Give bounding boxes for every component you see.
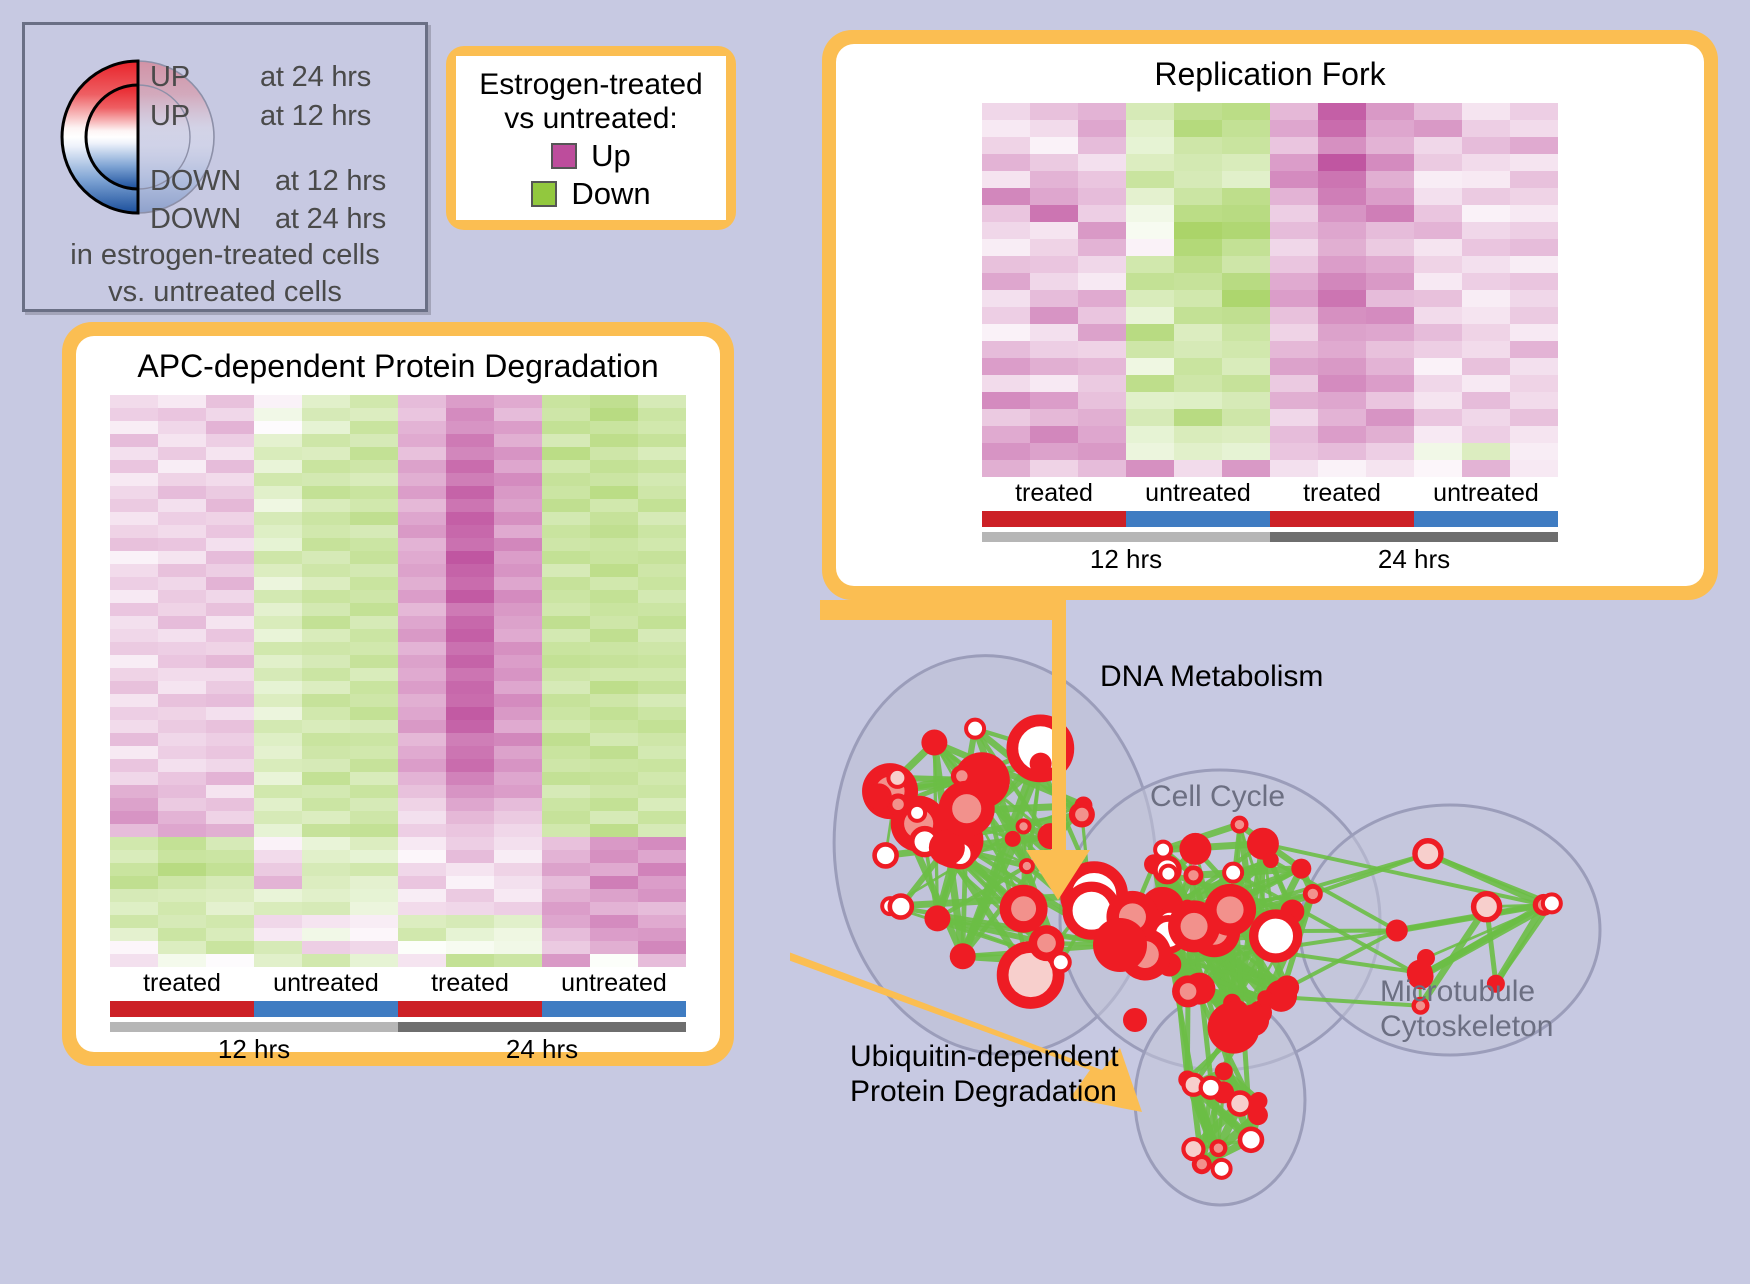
heatmap-cell <box>158 733 206 746</box>
heatmap-cell <box>206 499 254 512</box>
heatmap-cell <box>110 876 158 889</box>
heatmap-cell <box>206 798 254 811</box>
heatmap-cell <box>350 694 398 707</box>
heatmap-cell <box>350 395 398 408</box>
heatmap-cell <box>1462 341 1510 358</box>
heatmap-cell <box>1270 341 1318 358</box>
heatmap-cell <box>1126 307 1174 324</box>
heatmap-cell <box>446 837 494 850</box>
heatmap-cell <box>110 811 158 824</box>
heatmap-cell <box>206 876 254 889</box>
heatmap-cell <box>446 876 494 889</box>
heatmap-cell <box>254 525 302 538</box>
heatmap-cell <box>158 707 206 720</box>
heatmap-cell <box>542 694 590 707</box>
heatmap-cell <box>446 850 494 863</box>
heatmap-cell <box>398 707 446 720</box>
heatmap-cell <box>446 655 494 668</box>
network-node-core <box>1181 913 1208 940</box>
heatmap-cell <box>542 408 590 421</box>
heatmap-cell <box>1174 409 1222 426</box>
heatmap-cell <box>302 850 350 863</box>
heatmap-cell <box>110 616 158 629</box>
heatmap-cell <box>110 889 158 902</box>
heatmap-cell <box>1174 324 1222 341</box>
heatmap-cell <box>350 759 398 772</box>
heatmap-cell <box>1078 409 1126 426</box>
heatmap-cell <box>1318 341 1366 358</box>
heatmap-cell <box>302 785 350 798</box>
heatmap-cell <box>590 486 638 499</box>
heatmap-cell <box>206 863 254 876</box>
heatmap-cell <box>206 902 254 915</box>
panel-apc-dependent-protein-degradation: APC-dependent Protein Degradation treate… <box>62 322 734 1066</box>
heatmap-cell <box>1270 171 1318 188</box>
heatmap-cell <box>206 785 254 798</box>
heatmap-cell <box>1366 443 1414 460</box>
heatmap-cell <box>206 837 254 850</box>
heatmap-cell <box>158 460 206 473</box>
heatmap-cell <box>590 616 638 629</box>
heatmap-cell <box>1270 256 1318 273</box>
heatmap-cell <box>494 928 542 941</box>
heatmap-cell <box>254 759 302 772</box>
treated-bar <box>982 511 1126 527</box>
heatmap-cell <box>206 759 254 772</box>
heatmap-cell <box>1462 375 1510 392</box>
heatmap-cell <box>590 759 638 772</box>
heatmap-cell <box>1222 307 1270 324</box>
heatmap-cell <box>638 408 686 421</box>
heatmap-cell <box>1510 409 1558 426</box>
heatmap-cell <box>446 421 494 434</box>
heatmap-cell <box>302 811 350 824</box>
heatmap-cell <box>158 889 206 902</box>
heatmap-cell <box>542 889 590 902</box>
heatmap-cell <box>590 720 638 733</box>
group-labels-row: treated untreated treated untreated <box>982 479 1558 508</box>
heatmap-cell <box>1126 137 1174 154</box>
heatmap-cell <box>350 447 398 460</box>
network-node <box>1215 1062 1233 1080</box>
heatmap-cell <box>1462 154 1510 171</box>
heatmap-cell <box>638 720 686 733</box>
heatmap-cell <box>110 447 158 460</box>
heatmap-cell <box>638 499 686 512</box>
heatmap-cell <box>206 421 254 434</box>
heatmap-cell <box>398 525 446 538</box>
heatmap-cell <box>638 837 686 850</box>
heatmap-cell <box>302 824 350 837</box>
key-term: UP <box>150 100 260 133</box>
heatmap-cell <box>1510 171 1558 188</box>
key-row-down-24: DOWN at 24 hrs <box>150 203 386 236</box>
heatmap-cell <box>254 668 302 681</box>
cluster-label-cell-cycle: Cell Cycle <box>1150 780 1285 814</box>
heatmap-cell <box>590 850 638 863</box>
heatmap-cell <box>590 889 638 902</box>
heatmap-cell <box>158 590 206 603</box>
heatmap-cell <box>1510 273 1558 290</box>
heatmap-cell <box>1174 205 1222 222</box>
heatmap-cell <box>638 772 686 785</box>
heatmap-cell <box>542 525 590 538</box>
untreated-bar <box>1126 511 1270 527</box>
heatmap-cell <box>542 616 590 629</box>
heatmap-cell <box>982 358 1030 375</box>
heatmap-cell <box>110 759 158 772</box>
time-label: 12 hrs <box>110 1034 398 1065</box>
heatmap-cell <box>1126 188 1174 205</box>
heatmap-cell <box>590 512 638 525</box>
heatmap-cell <box>494 668 542 681</box>
heatmap-cell <box>590 733 638 746</box>
heatmap-cell <box>446 681 494 694</box>
heatmap-cell <box>494 538 542 551</box>
heatmap-cell <box>206 577 254 590</box>
heatmap-cell <box>1222 188 1270 205</box>
heatmap-cell <box>1414 426 1462 443</box>
heatmap-cell <box>1414 273 1462 290</box>
heatmap-cell <box>350 551 398 564</box>
heatmap-cell <box>1510 205 1558 222</box>
heatmap-cell <box>302 629 350 642</box>
group-label: untreated <box>254 969 398 998</box>
heatmap-cell <box>254 551 302 564</box>
heatmap-cell <box>1222 426 1270 443</box>
treated-bar <box>110 1001 254 1017</box>
heatmap-cell <box>158 902 206 915</box>
heatmap-cell <box>1270 324 1318 341</box>
heatmap-cell <box>590 434 638 447</box>
heatmap-cell <box>1126 171 1174 188</box>
heatmap-cell <box>446 733 494 746</box>
heatmap-cell <box>1414 239 1462 256</box>
group-label: treated <box>398 969 542 998</box>
heatmap-cell <box>302 694 350 707</box>
heatmap-cell <box>398 486 446 499</box>
heatmap-cell <box>638 434 686 447</box>
heatmap-cell <box>398 434 446 447</box>
heatmap-cell <box>398 668 446 681</box>
heatmap-cell <box>1462 426 1510 443</box>
heatmap-cell <box>398 512 446 525</box>
heatmap-cell <box>1078 256 1126 273</box>
heatmap-cell <box>398 395 446 408</box>
heatmap-cell <box>638 863 686 876</box>
heatmap-cell <box>1318 256 1366 273</box>
heatmap-cell <box>158 850 206 863</box>
heatmap-cell <box>446 759 494 772</box>
heatmap-cell <box>398 941 446 954</box>
heatmap-cell <box>254 473 302 486</box>
heatmap-cell <box>350 850 398 863</box>
heatmap-cell <box>302 928 350 941</box>
heatmap-cell <box>590 824 638 837</box>
heatmap-cell <box>398 421 446 434</box>
heatmap-cell <box>542 941 590 954</box>
heatmap-cell <box>158 785 206 798</box>
heatmap-cell <box>158 811 206 824</box>
heatmap-cell <box>398 915 446 928</box>
heatmap-cell <box>446 746 494 759</box>
heatmap-cell <box>982 392 1030 409</box>
heatmap-cell <box>398 759 446 772</box>
network-node <box>1275 975 1299 999</box>
time-12hrs-bar <box>110 1022 398 1032</box>
heatmap-cell <box>494 616 542 629</box>
heatmap-cell <box>110 837 158 850</box>
heatmap-cell <box>590 421 638 434</box>
heatmap-cell <box>982 375 1030 392</box>
heatmap-cell <box>1030 426 1078 443</box>
heatmap-cell <box>158 941 206 954</box>
heatmap-cell <box>110 954 158 967</box>
heatmap-cell <box>302 408 350 421</box>
network-node <box>1005 831 1021 847</box>
heatmap-cell <box>158 746 206 759</box>
time-color-bar <box>110 1022 686 1032</box>
heatmap-cell <box>206 655 254 668</box>
heatmap-cell <box>398 642 446 655</box>
heatmap-cell <box>1174 341 1222 358</box>
heatmap-cell <box>206 642 254 655</box>
heatmap-cell <box>302 473 350 486</box>
heatmap-cell <box>446 564 494 577</box>
heatmap-cell <box>302 447 350 460</box>
heatmap-cell <box>590 746 638 759</box>
heatmap-cell <box>254 603 302 616</box>
heatmap-cell <box>1126 222 1174 239</box>
heatmap-cell <box>1462 290 1510 307</box>
heatmap-cell <box>158 395 206 408</box>
heatmap-cell <box>206 408 254 421</box>
heatmap-cell <box>206 733 254 746</box>
heatmap-cell <box>494 876 542 889</box>
heatmap-cell <box>494 486 542 499</box>
heatmap-cell <box>638 902 686 915</box>
heatmap-cell <box>1366 324 1414 341</box>
heatmap-cell <box>254 863 302 876</box>
heatmap-cell <box>542 915 590 928</box>
heatmap-cell <box>1270 307 1318 324</box>
heatmap-cell <box>446 616 494 629</box>
heatmap-cell <box>638 642 686 655</box>
heatmap-cell <box>1318 324 1366 341</box>
heatmap-cell <box>590 525 638 538</box>
heatmap-cell <box>446 525 494 538</box>
heatmap-cell <box>1270 137 1318 154</box>
heatmap-cell <box>494 434 542 447</box>
heatmap-cell <box>494 850 542 863</box>
heatmap-cell <box>1270 358 1318 375</box>
heatmap-cell <box>206 551 254 564</box>
heatmap-cell <box>1318 375 1366 392</box>
heatmap-cell <box>1078 358 1126 375</box>
heatmap-cell <box>638 512 686 525</box>
time-12hrs-bar <box>982 532 1270 542</box>
network-node <box>950 943 976 969</box>
heatmap-cell <box>590 915 638 928</box>
heatmap-cell <box>158 616 206 629</box>
heatmap-cell <box>110 681 158 694</box>
heatmap-cell <box>350 720 398 733</box>
heatmap-cell <box>1222 103 1270 120</box>
heatmap-cell <box>1510 137 1558 154</box>
heatmap-cell <box>110 785 158 798</box>
heatmap-cell <box>1030 188 1078 205</box>
heatmap-cell <box>590 655 638 668</box>
heatmap-cell <box>1222 239 1270 256</box>
heatmap-cell <box>494 772 542 785</box>
heatmap-cell <box>494 902 542 915</box>
heatmap-cell <box>206 954 254 967</box>
heatmap-cell <box>1222 154 1270 171</box>
cluster-label-dna-metabolism: DNA Metabolism <box>1100 660 1323 694</box>
legend-entry-down: Down <box>531 176 650 212</box>
heatmap-cell <box>494 447 542 460</box>
heatmap-cell <box>638 421 686 434</box>
heatmap-cell <box>254 512 302 525</box>
heatmap-cell <box>206 525 254 538</box>
network-svg <box>790 600 1750 1279</box>
heatmap-cell <box>638 811 686 824</box>
heatmap-cell <box>350 889 398 902</box>
heatmap-cell <box>1510 341 1558 358</box>
heatmap-cell <box>494 798 542 811</box>
heatmap-cell <box>1030 324 1078 341</box>
heatmap-cell <box>158 421 206 434</box>
heatmap-cell <box>1414 290 1462 307</box>
untreated-bar <box>542 1001 686 1017</box>
heatmap-cell <box>398 564 446 577</box>
heatmap-cell <box>110 590 158 603</box>
heatmap-cell <box>1462 307 1510 324</box>
heatmap-cell <box>590 681 638 694</box>
heatmap-cell <box>1174 375 1222 392</box>
heatmap-cell <box>254 538 302 551</box>
group-color-bar <box>110 1001 686 1017</box>
network-node <box>1208 1002 1260 1054</box>
heatmap-cell <box>302 577 350 590</box>
heatmap-cell <box>1030 171 1078 188</box>
heatmap-cell <box>1366 375 1414 392</box>
heatmap-cell <box>110 486 158 499</box>
heatmap-cell <box>350 785 398 798</box>
heatmap-cell <box>982 120 1030 137</box>
heatmap-cell <box>1078 103 1126 120</box>
heatmap-cell <box>982 426 1030 443</box>
heatmap-cell <box>590 473 638 486</box>
heatmap-cell <box>1510 256 1558 273</box>
heatmap-cell <box>1222 392 1270 409</box>
heatmap-cell <box>446 824 494 837</box>
heatmap-cell <box>542 538 590 551</box>
key-term: DOWN <box>150 203 275 236</box>
heatmap-cell <box>302 460 350 473</box>
heatmap-cell <box>398 590 446 603</box>
heatmap-cell <box>494 720 542 733</box>
heatmap-cell <box>1510 103 1558 120</box>
heatmap-cell <box>1126 120 1174 137</box>
heatmap-cell <box>110 707 158 720</box>
group-label: untreated <box>1414 479 1558 508</box>
heatmap-cell <box>494 746 542 759</box>
heatmap-cell <box>982 188 1030 205</box>
heatmap-cell <box>1222 222 1270 239</box>
network-node <box>1093 918 1147 972</box>
heatmap-cell <box>206 824 254 837</box>
heatmap-cell <box>638 603 686 616</box>
heatmap-cell <box>110 408 158 421</box>
heatmap-cell <box>1174 358 1222 375</box>
up-swatch-icon <box>551 143 577 169</box>
network-node <box>1254 914 1298 958</box>
heatmap-cell <box>254 941 302 954</box>
heatmap-cell <box>1126 341 1174 358</box>
heatmap-cell <box>158 603 206 616</box>
heatmap-cell <box>1078 154 1126 171</box>
key-row-up-24: UP at 24 hrs <box>150 61 371 94</box>
heatmap-cell <box>1318 290 1366 307</box>
heatmap-cell <box>1462 188 1510 205</box>
network-node-core <box>1188 870 1198 880</box>
heatmap-cell <box>446 590 494 603</box>
heatmap-cell <box>1270 205 1318 222</box>
heatmap-cell <box>1462 443 1510 460</box>
heatmap-cell <box>1318 205 1366 222</box>
heatmap-cell <box>542 434 590 447</box>
heatmap-cell <box>590 564 638 577</box>
time-label: 24 hrs <box>1270 544 1558 575</box>
network-node-core <box>952 794 981 823</box>
heatmap-cell <box>398 746 446 759</box>
heatmap-cell <box>1222 460 1270 477</box>
heatmap-cell <box>1318 188 1366 205</box>
network-node-core <box>1075 808 1089 822</box>
heatmap-cell <box>446 629 494 642</box>
heatmap-cell <box>542 785 590 798</box>
heatmap-cell <box>590 707 638 720</box>
heatmap-cell <box>302 681 350 694</box>
heatmap-cell <box>446 928 494 941</box>
network-node <box>1052 953 1070 971</box>
heatmap-cell <box>1078 120 1126 137</box>
heatmap-cell <box>982 205 1030 222</box>
heatmap-cell <box>1222 375 1270 392</box>
heatmap-cell <box>110 642 158 655</box>
heatmap-cell <box>1462 273 1510 290</box>
heatmap-cell <box>1126 273 1174 290</box>
panel-replication-fork: Replication Fork treated untreated treat… <box>822 30 1718 600</box>
heatmap-cell <box>1126 205 1174 222</box>
heatmap-cell <box>982 307 1030 324</box>
heatmap-cell <box>1414 188 1462 205</box>
heatmap-cell <box>206 473 254 486</box>
heatmap-cell <box>206 564 254 577</box>
heatmap-cell <box>1366 460 1414 477</box>
heatmap-cell <box>590 395 638 408</box>
heatmap-cell <box>590 876 638 889</box>
heatmap-cell <box>1270 375 1318 392</box>
network-node <box>1240 1129 1262 1151</box>
network-node <box>1543 894 1561 912</box>
heatmap-cell <box>1510 188 1558 205</box>
heatmap-cell <box>494 499 542 512</box>
key-time: at 12 hrs <box>275 165 386 198</box>
heatmap-cell <box>158 863 206 876</box>
heatmap-cell <box>110 915 158 928</box>
